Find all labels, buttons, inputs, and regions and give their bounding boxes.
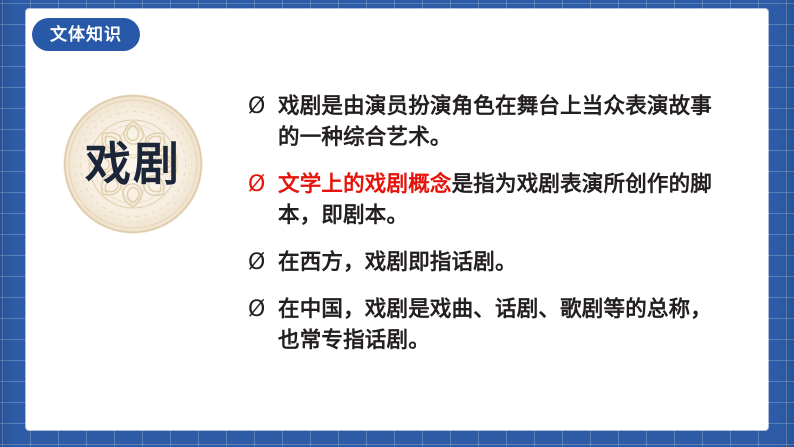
text-segment: 在中国，戏剧是戏曲、话剧、歌剧等的总称，也常专指话剧。 [278,297,712,352]
seal-label: 戏剧 [62,93,204,235]
slashed-circle-bullet-icon: Ø [248,247,278,278]
knowledge-bullet-list: Ø 戏剧是由演员扮演角色在舞台上当众表演故事的一种综合艺术。 Ø 文学上的戏剧概… [248,91,718,356]
list-item: Ø 戏剧是由演员扮演角色在舞台上当众表演故事的一种综合艺术。 [248,91,718,153]
section-badge-label: 文体知识 [50,26,122,43]
highlighted-text-segment: 文学上的戏剧概念 [278,172,452,196]
list-item: Ø 在西方，戏剧即指话剧。 [248,247,718,278]
slide-canvas: 文体知识 [0,0,794,447]
list-item-text: 文学上的戏剧概念是指为戏剧表演所创作的脚本，即剧本。 [278,169,718,231]
text-segment: 戏剧是由演员扮演角色在舞台上当众表演故事的一种综合艺术。 [278,94,712,149]
list-item-text: 戏剧是由演员扮演角色在舞台上当众表演故事的一种综合艺术。 [278,91,718,153]
list-item-text: 在中国，戏剧是戏曲、话剧、歌剧等的总称，也常专指话剧。 [278,294,718,356]
slashed-circle-bullet-icon: Ø [248,169,278,200]
content-panel: 文体知识 [26,9,768,430]
list-item-text: 在西方，戏剧即指话剧。 [278,247,718,278]
title-seal: 戏剧 [62,93,204,235]
slashed-circle-bullet-icon: Ø [248,294,278,325]
list-item: Ø 文学上的戏剧概念是指为戏剧表演所创作的脚本，即剧本。 [248,169,718,231]
list-item: Ø 在中国，戏剧是戏曲、话剧、歌剧等的总称，也常专指话剧。 [248,294,718,356]
text-segment: 在西方，戏剧即指话剧。 [278,250,517,274]
section-badge[interactable]: 文体知识 [32,18,140,51]
slashed-circle-bullet-icon: Ø [248,91,278,122]
